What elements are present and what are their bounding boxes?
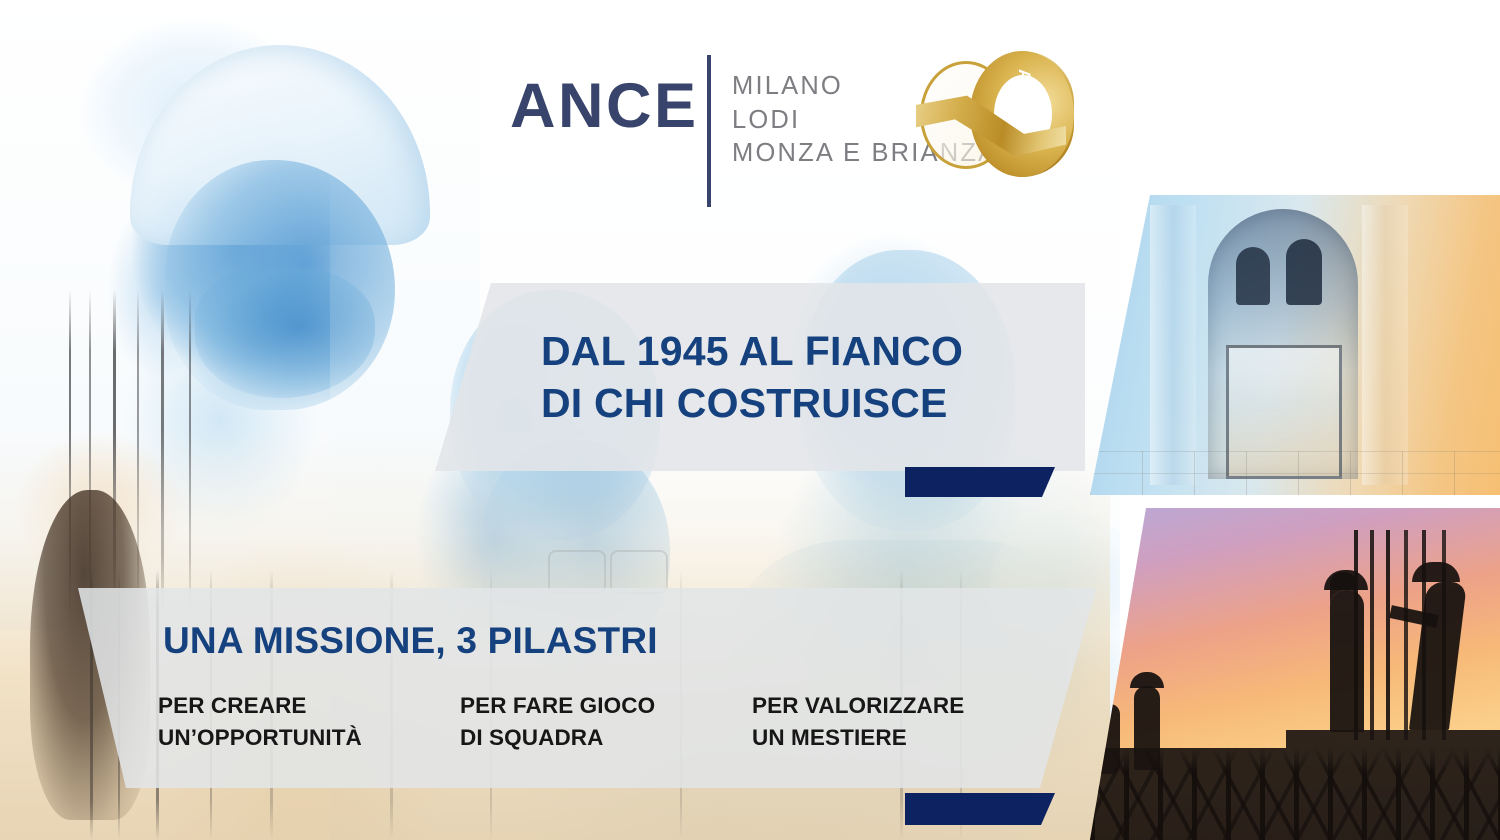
pillar-item-2: PER FARE GIOCO DI SQUADRA [460,690,752,754]
anni-label: ANNI [1014,69,1034,123]
anniversary-80-icon: ANNI [910,47,1090,192]
ance-wordmark: ANCE [510,75,699,138]
construction-sunset-image [1090,508,1500,840]
pillar-3-line-1: PER VALORIZZARE [752,690,1052,722]
pillar-2-line-1: PER FARE GIOCO [460,690,752,722]
entrance-figure-one [1236,247,1270,305]
worker-a-silhouette [1330,590,1364,732]
entrance-paving [1090,451,1500,495]
entrance-column-right [1362,205,1408,485]
headline-line-1: DAL 1945 AL FIANCO [541,325,1061,377]
pillars-accent-bar [905,793,1055,825]
headline-line-2: DI CHI COSTRUISCE [541,377,1061,429]
pillar-2-line-2: DI SQUADRA [460,722,752,754]
entrance-figure-two [1286,239,1322,305]
pillars-title: UNA MISSIONE, 3 PILASTRI [163,620,658,662]
pillar-1-line-1: PER CREARE [158,690,460,722]
building-entrance-image [1090,195,1500,495]
pillar-item-1: PER CREARE UN’OPPORTUNITÀ [158,690,460,754]
poster-canvas: DAL 1945 AL FIANCO DI CHI COSTRUISCE UNA… [0,0,1500,840]
entrance-column-left [1150,205,1196,485]
pillar-3-line-2: UN MESTIERE [752,722,1052,754]
logo-divider [707,55,711,207]
ance-logo: ANCE MILANO LODI MONZA E BRIANZA ANNI [510,55,1090,195]
headline-accent-bar [905,467,1055,497]
pillars-list: PER CREARE UN’OPPORTUNITÀ PER FARE GIOCO… [158,690,1058,754]
pillar-item-3: PER VALORIZZARE UN MESTIERE [752,690,1052,754]
scaffolding-truss-shape [1090,748,1500,840]
headline: DAL 1945 AL FIANCO DI CHI COSTRUISCE [541,325,1061,430]
pillars-panel [78,588,1096,788]
pillar-1-line-2: UN’OPPORTUNITÀ [158,722,460,754]
